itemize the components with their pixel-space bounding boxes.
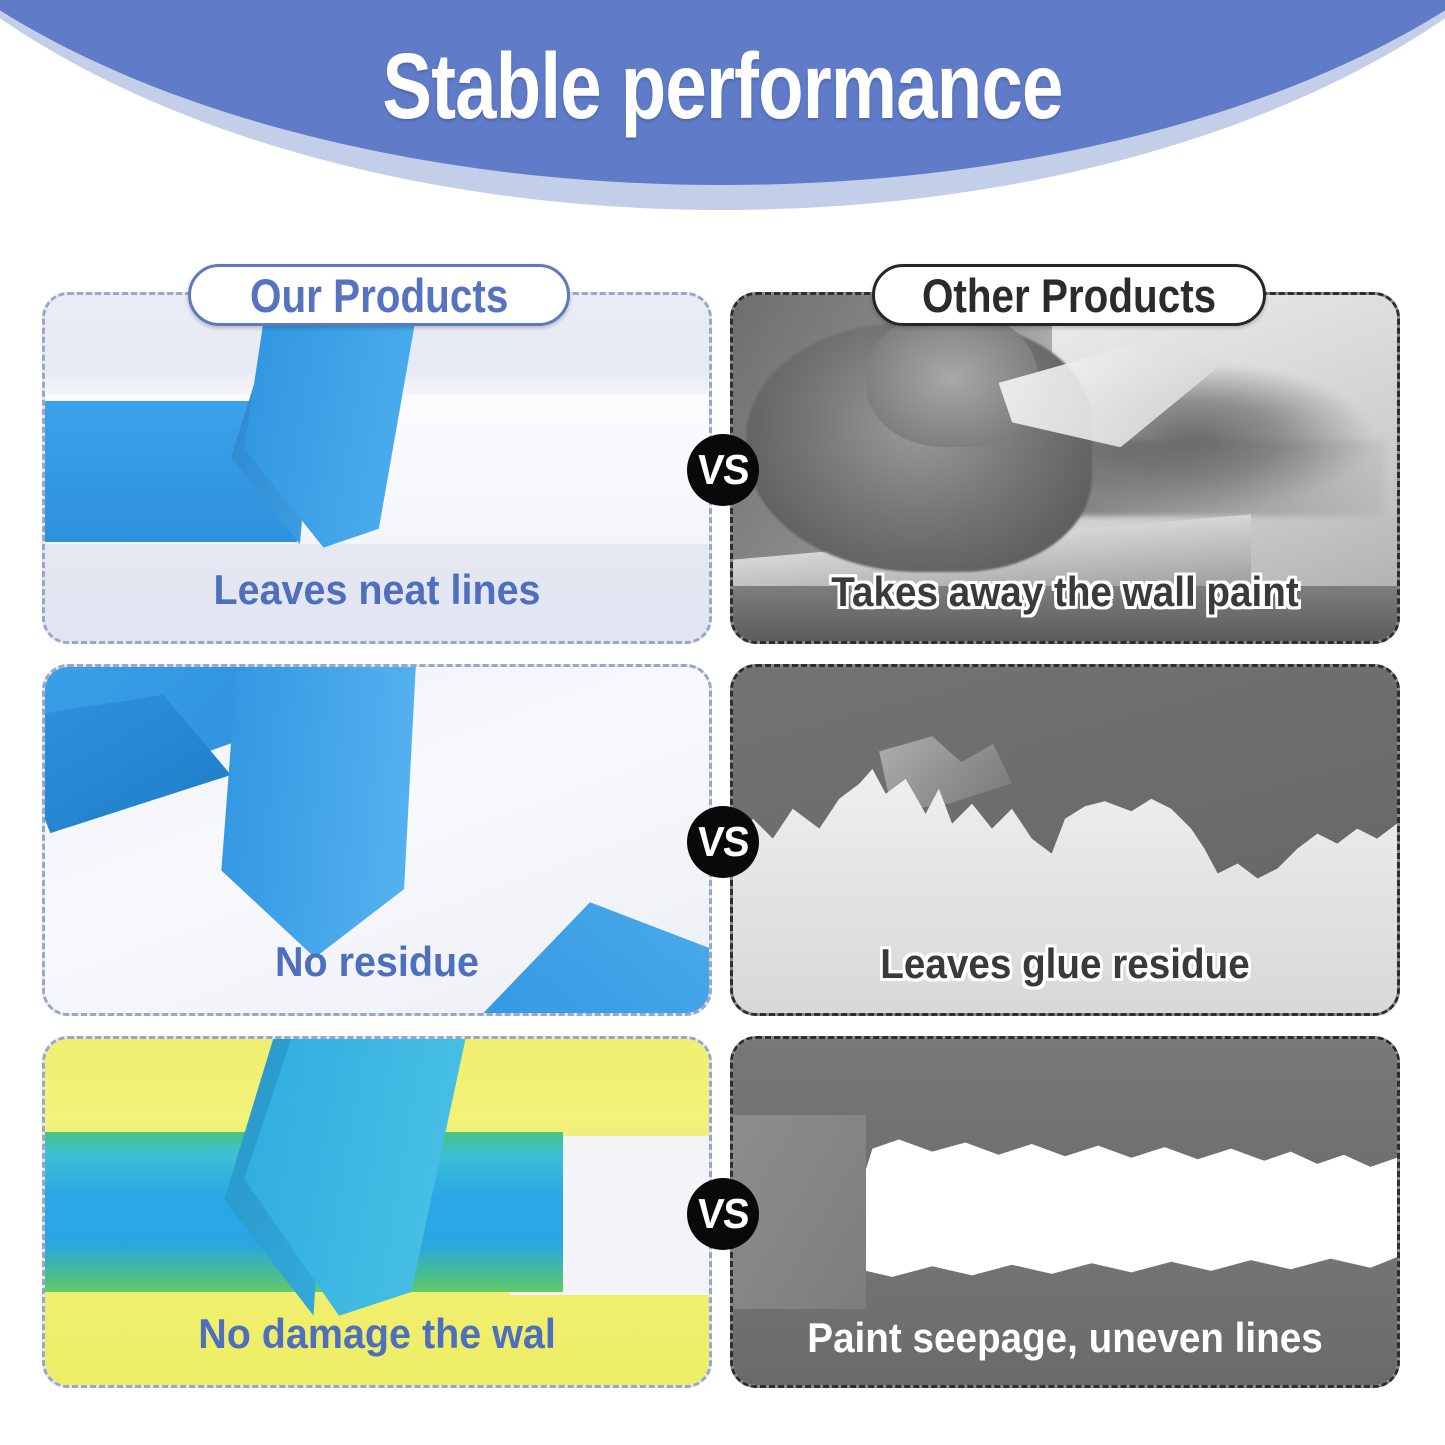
vs-badge-row2: VS: [687, 806, 759, 878]
caption-other-row1: Takes away the wall paint: [760, 571, 1371, 613]
card-ours-row1: Leaves neat lines: [42, 292, 712, 644]
label-our-products-text: Our Products: [250, 272, 508, 319]
vs-badge-row3: VS: [687, 1178, 759, 1250]
card-other-row1: Takes away the wall paint: [730, 292, 1400, 644]
vs-badge-row1: VS: [687, 434, 759, 506]
card-ours-row2: No residue: [42, 664, 712, 1016]
label-other-products-text: Other Products: [922, 272, 1216, 319]
label-other-products: Other Products: [872, 264, 1266, 326]
card-other-row2: Leaves glue residue: [730, 664, 1400, 1016]
vs-badge-row3-label: VS: [696, 1193, 750, 1235]
caption-ours-row3: No damage the wal: [65, 1313, 689, 1355]
vs-badge-row1-label: VS: [696, 449, 750, 491]
vs-badge-row2-label: VS: [696, 821, 750, 863]
label-our-products: Our Products: [188, 264, 570, 326]
caption-other-row3: Paint seepage, uneven lines: [760, 1317, 1371, 1359]
caption-ours-row1: Leaves neat lines: [65, 569, 689, 611]
caption-other-row2: Leaves glue residue: [760, 943, 1371, 985]
card-other-row3: Paint seepage, uneven lines: [730, 1036, 1400, 1388]
comparison-grid: Leaves neat lines Takes away the wall pa…: [0, 0, 1445, 1445]
caption-ours-row2: No residue: [65, 941, 689, 983]
card-ours-row3: No damage the wal: [42, 1036, 712, 1388]
